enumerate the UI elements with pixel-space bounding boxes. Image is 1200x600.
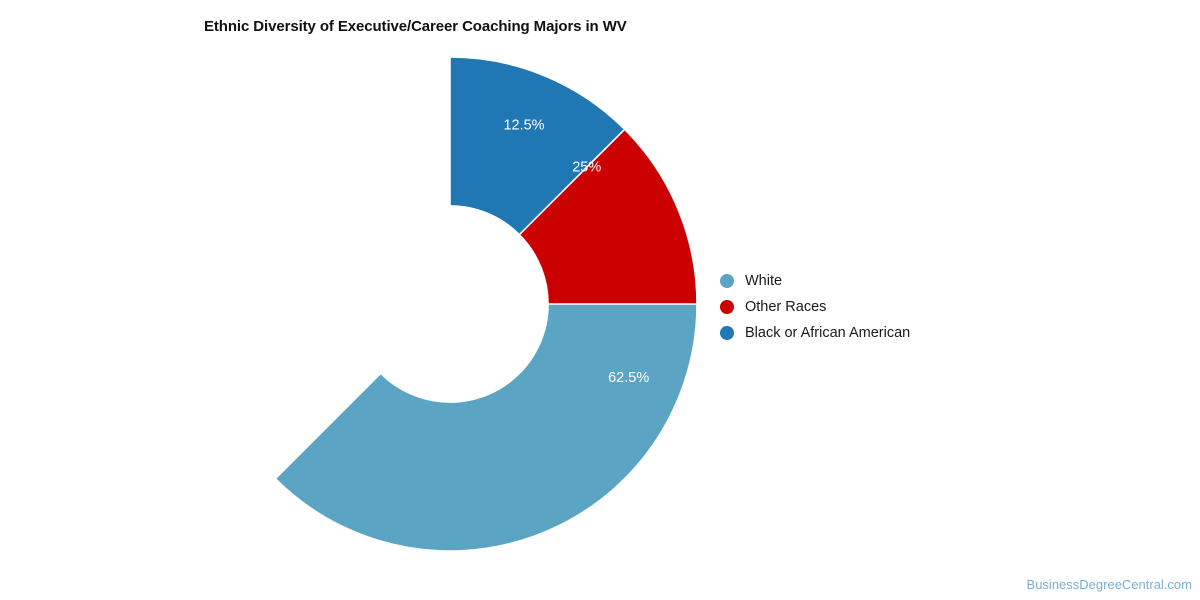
- legend-item[interactable]: Other Races: [720, 294, 980, 320]
- slice-value-label: 62.5%: [608, 370, 649, 386]
- legend-item-label: White: [745, 274, 782, 289]
- donut-chart-svg: 62.5%25%12.5%: [0, 0, 1200, 600]
- legend-swatch-icon: [720, 274, 734, 288]
- legend-item-label: Other Races: [745, 300, 826, 315]
- slice-group: [275, 57, 697, 551]
- footer-watermark: BusinessDegreeCentral.com: [1027, 577, 1192, 592]
- legend-item[interactable]: White: [720, 268, 980, 294]
- legend: WhiteOther RacesBlack or African America…: [720, 268, 980, 346]
- legend-item[interactable]: Black or African American: [720, 320, 980, 346]
- slice-value-label: 25%: [572, 159, 601, 175]
- donut-chart-figure: Ethnic Diversity of Executive/Career Coa…: [0, 0, 1200, 600]
- legend-swatch-icon: [720, 300, 734, 314]
- slice-value-label: 12.5%: [503, 117, 544, 133]
- legend-item-label: Black or African American: [745, 326, 910, 341]
- legend-swatch-icon: [720, 326, 734, 340]
